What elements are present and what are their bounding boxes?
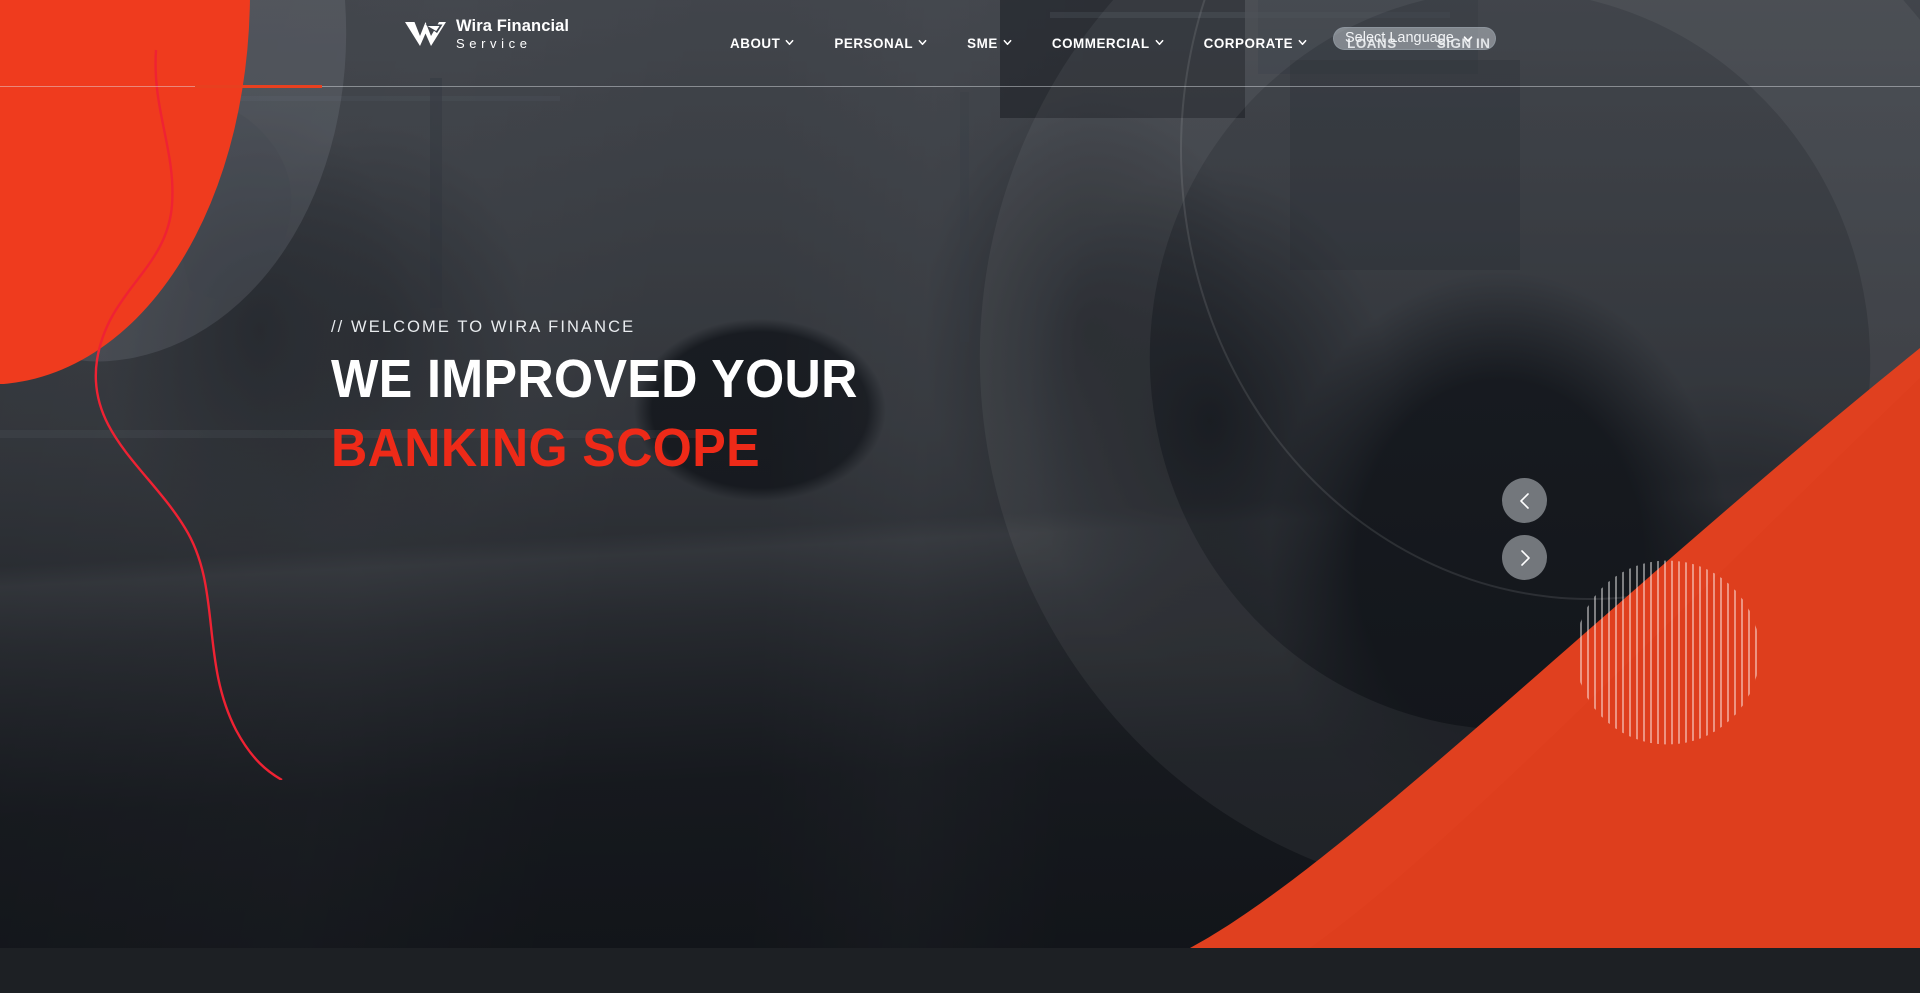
top-navbar: Wira Financial Service ABOUT PERSONAL SM… xyxy=(0,0,1920,86)
language-select[interactable]: Select Language xyxy=(1333,27,1496,50)
chevron-down-icon xyxy=(1155,38,1164,47)
hero-section: // WELCOME TO WIRA FINANCE WE IMPROVED Y… xyxy=(0,0,1920,948)
hero-headline: WE IMPROVED YOUR BANKING SCOPE xyxy=(331,351,858,477)
navbar-divider-accent xyxy=(195,85,322,88)
nav-item-sme[interactable]: SME xyxy=(947,36,1032,51)
hero-headline-line1: WE IMPROVED YOUR xyxy=(331,351,858,408)
language-select-value: Select Language xyxy=(1345,28,1454,49)
carousel-prev-button[interactable] xyxy=(1502,478,1547,523)
nav-item-corporate-label: CORPORATE xyxy=(1204,36,1294,51)
nav-item-personal-label: PERSONAL xyxy=(834,36,913,51)
chevron-down-icon xyxy=(785,38,794,47)
nav-item-commercial-label: COMMERCIAL xyxy=(1052,36,1150,51)
chevron-left-icon xyxy=(1517,491,1533,511)
hero-headline-line2: BANKING SCOPE xyxy=(331,420,858,477)
hero-copy: // WELCOME TO WIRA FINANCE WE IMPROVED Y… xyxy=(331,318,897,477)
chevron-down-icon xyxy=(918,38,927,47)
hero-eyebrow: // WELCOME TO WIRA FINANCE xyxy=(331,318,897,337)
brand-line-1: Wira Financial xyxy=(456,18,569,35)
footer-strip xyxy=(0,948,1920,993)
chevron-down-icon xyxy=(1298,38,1307,47)
chevron-right-icon xyxy=(1517,548,1533,568)
brand-logo[interactable]: Wira Financial Service xyxy=(404,18,569,50)
chevron-down-icon xyxy=(1003,38,1012,47)
wira-logo-icon xyxy=(404,20,447,47)
carousel-controls xyxy=(1502,478,1547,580)
nav-item-commercial[interactable]: COMMERCIAL xyxy=(1032,36,1184,51)
nav-item-about[interactable]: ABOUT xyxy=(710,36,814,51)
nav-item-corporate[interactable]: CORPORATE xyxy=(1184,36,1328,51)
nav-item-about-label: ABOUT xyxy=(730,36,780,51)
brand-text: Wira Financial Service xyxy=(456,18,569,50)
page-root: // WELCOME TO WIRA FINANCE WE IMPROVED Y… xyxy=(0,0,1920,993)
nav-item-sme-label: SME xyxy=(967,36,998,51)
chevron-down-icon xyxy=(1463,34,1473,44)
brand-line-2: Service xyxy=(456,37,569,50)
carousel-next-button[interactable] xyxy=(1502,535,1547,580)
nav-item-personal[interactable]: PERSONAL xyxy=(814,36,947,51)
